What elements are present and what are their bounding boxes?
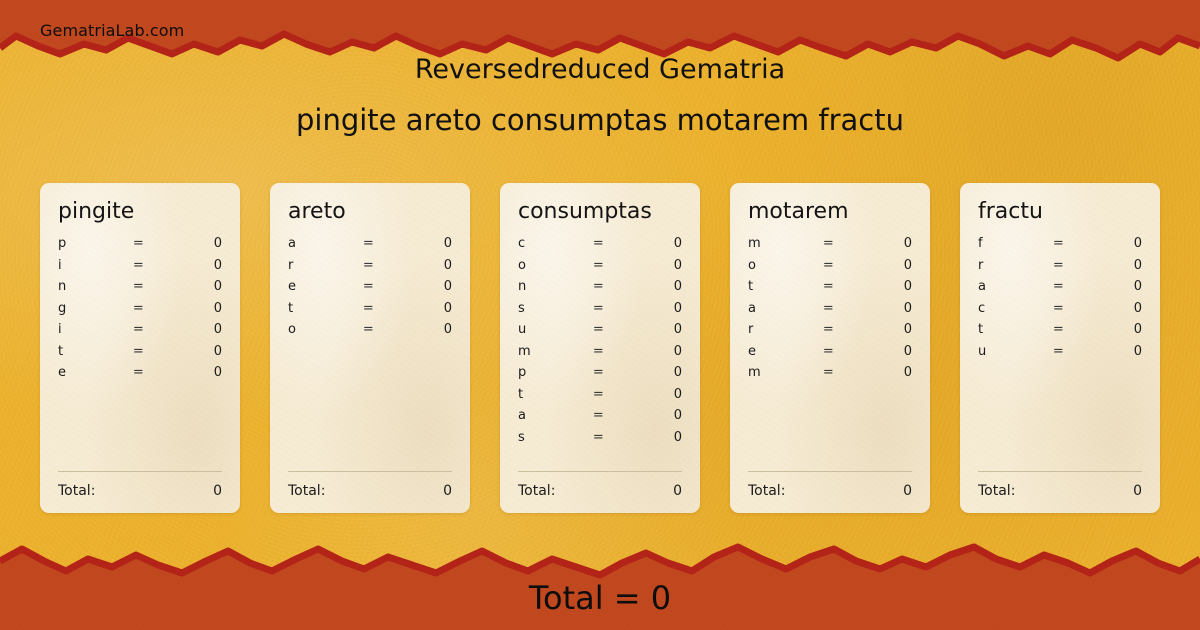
letter-value: 0 — [163, 365, 222, 380]
letter-value: 0 — [623, 258, 682, 273]
letter-value: 0 — [393, 301, 452, 316]
letter-row: c=0 — [978, 301, 1142, 323]
letter-row: r=0 — [978, 258, 1142, 280]
card-total-value: 0 — [903, 483, 912, 499]
equals-sign: = — [1034, 279, 1083, 294]
letter-row: a=0 — [978, 279, 1142, 301]
letter-row: e=0 — [288, 279, 452, 301]
letter-label: n — [58, 279, 114, 294]
letter-row: r=0 — [748, 322, 912, 344]
equals-sign: = — [804, 301, 853, 316]
letter-row: t=0 — [978, 322, 1142, 344]
letter-value: 0 — [623, 365, 682, 380]
card-total-row: Total:0 — [58, 483, 222, 499]
letter-value: 0 — [163, 322, 222, 337]
letter-label: p — [518, 365, 574, 380]
letter-label: t — [288, 301, 344, 316]
word-card: pingitep=0i=0n=0g=0i=0t=0e=0Total:0 — [40, 183, 240, 513]
card-total-label: Total: — [978, 483, 1015, 499]
letter-value: 0 — [623, 408, 682, 423]
letter-value: 0 — [1083, 279, 1142, 294]
letter-value: 0 — [853, 322, 912, 337]
letter-value: 0 — [623, 279, 682, 294]
card-total-row: Total:0 — [748, 483, 912, 499]
letter-row: s=0 — [518, 430, 682, 452]
card-total-label: Total: — [288, 483, 325, 499]
letter-row: o=0 — [288, 322, 452, 344]
letter-row: o=0 — [518, 258, 682, 280]
card-total-value: 0 — [1133, 483, 1142, 499]
equals-sign: = — [114, 258, 163, 273]
letter-label: n — [518, 279, 574, 294]
equals-sign: = — [114, 365, 163, 380]
letter-value: 0 — [163, 301, 222, 316]
letter-value: 0 — [1083, 236, 1142, 251]
letter-value: 0 — [853, 301, 912, 316]
letter-row: c=0 — [518, 236, 682, 258]
equals-sign: = — [804, 365, 853, 380]
card-total-label: Total: — [748, 483, 785, 499]
equals-sign: = — [344, 322, 393, 337]
letter-row: t=0 — [58, 344, 222, 366]
letter-label: r — [748, 322, 804, 337]
letter-value: 0 — [853, 258, 912, 273]
letter-label: m — [518, 344, 574, 359]
letter-value: 0 — [393, 258, 452, 273]
equals-sign: = — [804, 344, 853, 359]
letter-row: n=0 — [58, 279, 222, 301]
letter-value: 0 — [623, 301, 682, 316]
letter-label: o — [748, 258, 804, 273]
letter-row: i=0 — [58, 322, 222, 344]
equals-sign: = — [114, 301, 163, 316]
letter-value: 0 — [163, 236, 222, 251]
letter-value: 0 — [393, 236, 452, 251]
letter-value: 0 — [393, 322, 452, 337]
card-total-value: 0 — [673, 483, 682, 499]
letter-label: a — [288, 236, 344, 251]
letter-label: c — [518, 236, 574, 251]
letter-value: 0 — [623, 322, 682, 337]
equals-sign: = — [344, 258, 393, 273]
letter-row: p=0 — [518, 365, 682, 387]
letter-value: 0 — [1083, 258, 1142, 273]
letter-label: i — [58, 322, 114, 337]
grand-total: Total = 0 — [0, 581, 1200, 616]
header-block: Reversedreduced Gematria pingite areto c… — [0, 54, 1200, 137]
letter-value-list: m=0o=0t=0a=0r=0e=0m=0 — [748, 236, 912, 471]
card-word-title: motarem — [748, 200, 912, 224]
letter-row: m=0 — [748, 236, 912, 258]
letter-row: t=0 — [288, 301, 452, 323]
equals-sign: = — [574, 322, 623, 337]
letter-row: u=0 — [978, 344, 1142, 366]
letter-row: g=0 — [58, 301, 222, 323]
letter-row: a=0 — [748, 301, 912, 323]
letter-label: t — [748, 279, 804, 294]
card-total-row: Total:0 — [518, 483, 682, 499]
letter-label: o — [518, 258, 574, 273]
letter-row: m=0 — [748, 365, 912, 387]
equals-sign: = — [574, 387, 623, 402]
equals-sign: = — [574, 344, 623, 359]
letter-label: p — [58, 236, 114, 251]
letter-label: i — [58, 258, 114, 273]
letter-label: e — [288, 279, 344, 294]
letter-label: u — [518, 322, 574, 337]
equals-sign: = — [1034, 344, 1083, 359]
card-total-value: 0 — [443, 483, 452, 499]
equals-sign: = — [804, 236, 853, 251]
card-total-label: Total: — [58, 483, 95, 499]
letter-label: g — [58, 301, 114, 316]
letter-value: 0 — [623, 344, 682, 359]
letter-value: 0 — [1083, 322, 1142, 337]
letter-label: m — [748, 236, 804, 251]
equals-sign: = — [574, 301, 623, 316]
letter-value: 0 — [623, 430, 682, 445]
letter-value: 0 — [163, 279, 222, 294]
letter-label: u — [978, 344, 1034, 359]
word-card: consumptasc=0o=0n=0s=0u=0m=0p=0t=0a=0s=0… — [500, 183, 700, 513]
letter-row: a=0 — [518, 408, 682, 430]
letter-value: 0 — [1083, 344, 1142, 359]
letter-label: t — [978, 322, 1034, 337]
card-word-title: pingite — [58, 200, 222, 224]
equals-sign: = — [804, 322, 853, 337]
word-card: motaremm=0o=0t=0a=0r=0e=0m=0Total:0 — [730, 183, 930, 513]
equals-sign: = — [574, 236, 623, 251]
card-total-value: 0 — [213, 483, 222, 499]
letter-row: m=0 — [518, 344, 682, 366]
letter-label: a — [748, 301, 804, 316]
card-divider — [978, 471, 1142, 472]
equals-sign: = — [114, 344, 163, 359]
letter-value: 0 — [393, 279, 452, 294]
letter-row: o=0 — [748, 258, 912, 280]
letter-label: e — [748, 344, 804, 359]
equals-sign: = — [574, 258, 623, 273]
letter-row: p=0 — [58, 236, 222, 258]
letter-row: i=0 — [58, 258, 222, 280]
card-divider — [58, 471, 222, 472]
letter-label: f — [978, 236, 1034, 251]
letter-value-list: a=0r=0e=0t=0o=0 — [288, 236, 452, 471]
site-logo[interactable]: GematriaLab.com — [40, 21, 184, 40]
card-total-row: Total:0 — [978, 483, 1142, 499]
letter-value: 0 — [163, 258, 222, 273]
letter-row: e=0 — [748, 344, 912, 366]
letter-row: f=0 — [978, 236, 1142, 258]
cipher-title: Reversedreduced Gematria — [0, 54, 1200, 86]
letter-row: e=0 — [58, 365, 222, 387]
equals-sign: = — [114, 279, 163, 294]
phrase-title: pingite areto consumptas motarem fractu — [0, 104, 1200, 137]
letter-label: r — [978, 258, 1034, 273]
letter-label: r — [288, 258, 344, 273]
letter-label: o — [288, 322, 344, 337]
letter-label: a — [978, 279, 1034, 294]
equals-sign: = — [344, 279, 393, 294]
equals-sign: = — [574, 430, 623, 445]
letter-value: 0 — [623, 387, 682, 402]
card-divider — [748, 471, 912, 472]
equals-sign: = — [804, 258, 853, 273]
word-card: aretoa=0r=0e=0t=0o=0Total:0 — [270, 183, 470, 513]
equals-sign: = — [574, 408, 623, 423]
card-word-title: consumptas — [518, 200, 682, 224]
card-word-title: fractu — [978, 200, 1142, 224]
letter-value: 0 — [853, 344, 912, 359]
letter-value-list: f=0r=0a=0c=0t=0u=0 — [978, 236, 1142, 471]
letter-label: t — [518, 387, 574, 402]
equals-sign: = — [114, 236, 163, 251]
letter-value: 0 — [853, 236, 912, 251]
equals-sign: = — [804, 279, 853, 294]
letter-row: s=0 — [518, 301, 682, 323]
word-card: fractuf=0r=0a=0c=0t=0u=0Total:0 — [960, 183, 1160, 513]
equals-sign: = — [344, 236, 393, 251]
letter-label: t — [58, 344, 114, 359]
letter-label: m — [748, 365, 804, 380]
equals-sign: = — [1034, 258, 1083, 273]
letter-value-list: c=0o=0n=0s=0u=0m=0p=0t=0a=0s=0 — [518, 236, 682, 471]
equals-sign: = — [574, 279, 623, 294]
letter-row: t=0 — [518, 387, 682, 409]
letter-row: n=0 — [518, 279, 682, 301]
letter-label: e — [58, 365, 114, 380]
letter-row: u=0 — [518, 322, 682, 344]
card-total-label: Total: — [518, 483, 555, 499]
card-divider — [288, 471, 452, 472]
card-divider — [518, 471, 682, 472]
letter-value: 0 — [853, 365, 912, 380]
letter-value: 0 — [853, 279, 912, 294]
equals-sign: = — [114, 322, 163, 337]
letter-row: a=0 — [288, 236, 452, 258]
equals-sign: = — [1034, 236, 1083, 251]
equals-sign: = — [1034, 301, 1083, 316]
letter-label: s — [518, 301, 574, 316]
letter-label: a — [518, 408, 574, 423]
letter-row: r=0 — [288, 258, 452, 280]
letter-value-list: p=0i=0n=0g=0i=0t=0e=0 — [58, 236, 222, 471]
card-total-row: Total:0 — [288, 483, 452, 499]
equals-sign: = — [1034, 322, 1083, 337]
letter-label: c — [978, 301, 1034, 316]
letter-value: 0 — [1083, 301, 1142, 316]
card-word-title: areto — [288, 200, 452, 224]
equals-sign: = — [344, 301, 393, 316]
equals-sign: = — [574, 365, 623, 380]
letter-value: 0 — [163, 344, 222, 359]
letter-value: 0 — [623, 236, 682, 251]
word-cards-row: pingitep=0i=0n=0g=0i=0t=0e=0Total:0areto… — [40, 183, 1160, 513]
letter-row: t=0 — [748, 279, 912, 301]
letter-label: s — [518, 430, 574, 445]
